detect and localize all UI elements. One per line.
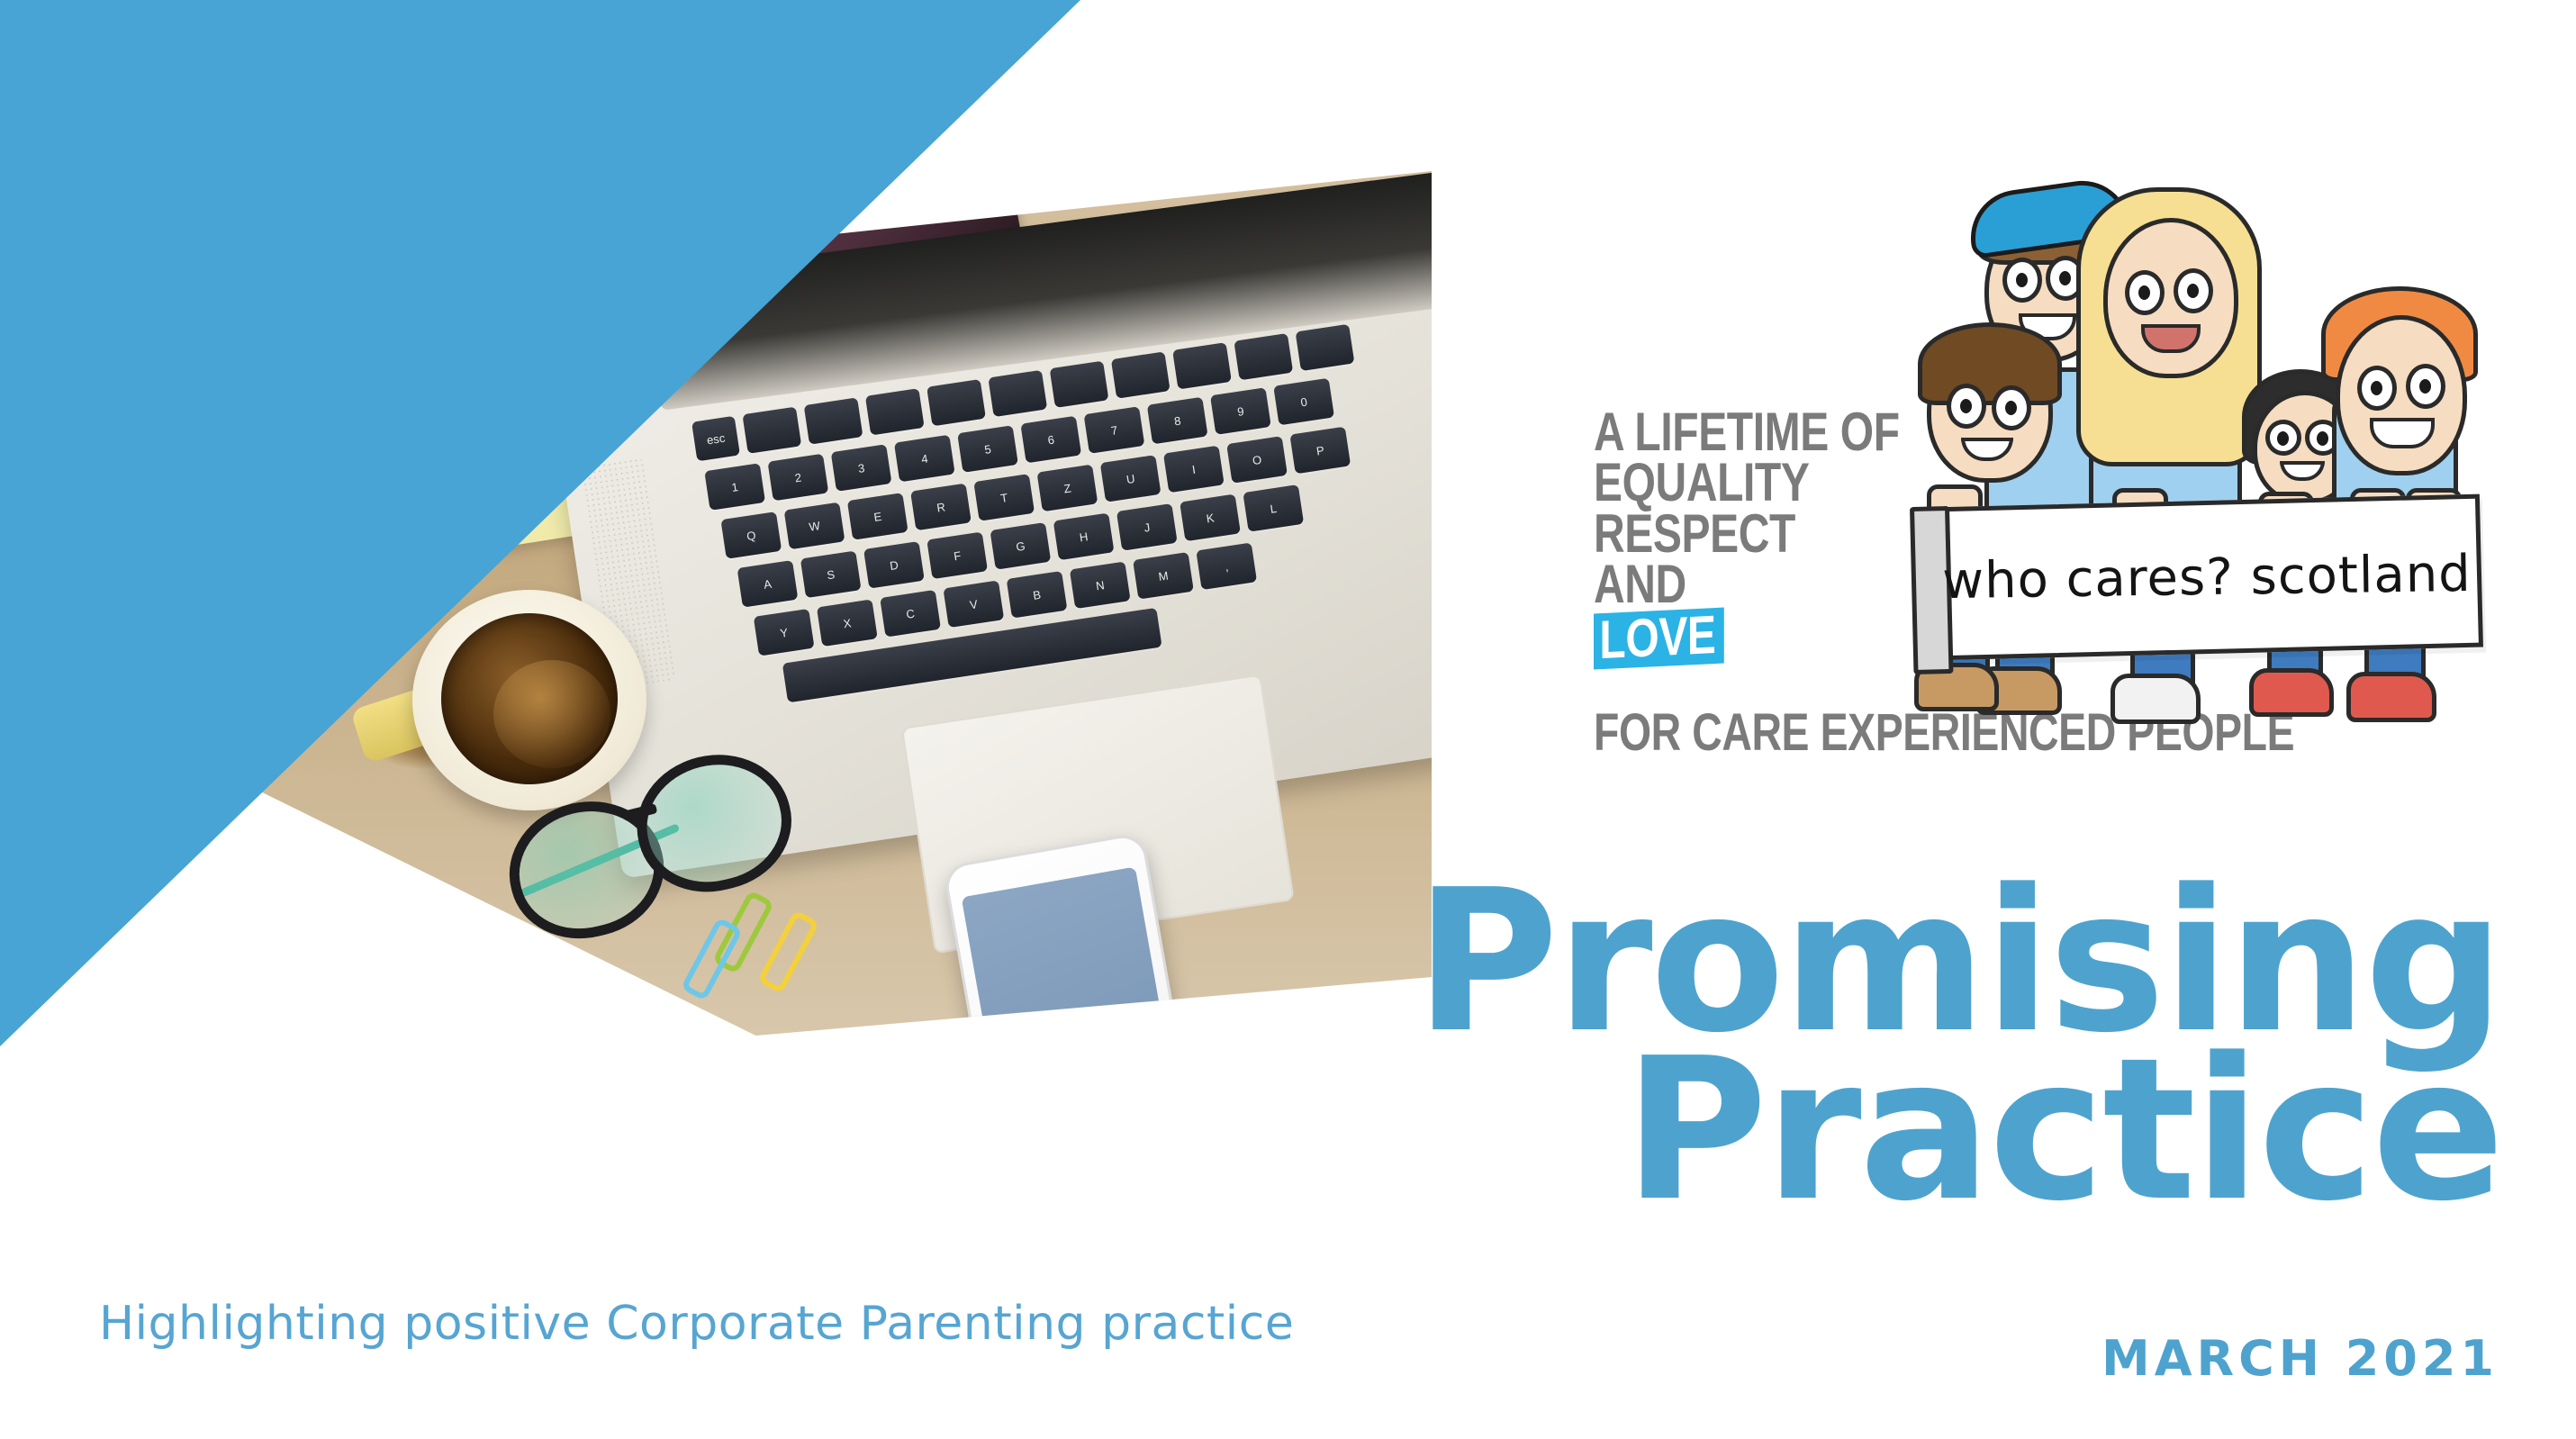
child-mouth <box>2370 418 2435 448</box>
logo-slogan: A LIFETIME OF EQUALITY RESPECT AND LOVE <box>1594 407 1927 666</box>
phone-screen <box>962 867 1188 1192</box>
pen-orange <box>644 1045 859 1158</box>
child-head <box>2336 315 2467 475</box>
logo-love-highlight: LOVE <box>1594 607 1724 669</box>
logo-slogan-line-1: A LIFETIME OF <box>1594 407 1860 457</box>
who-cares-banner: who cares? scotland <box>1930 494 2483 661</box>
coffee-crema <box>493 660 610 768</box>
child-shoe <box>2111 674 2201 724</box>
child-head <box>2103 218 2238 378</box>
page-title: Promising Practice <box>1415 878 2502 1216</box>
wood-knot <box>288 887 366 928</box>
coffee-liquid <box>441 613 618 784</box>
child-hair <box>1918 322 2062 405</box>
slide-canvas: esc 12 34 56 78 90 <box>0 0 2576 1439</box>
child-shoe <box>2249 668 2334 717</box>
logo-slogan-line-4: AND <box>1594 559 1860 610</box>
who-cares-scotland-logo: A LIFETIME OF EQUALITY RESPECT AND LOVE … <box>1594 171 2503 756</box>
page-subtitle: Highlighting positive Corporate Parentin… <box>99 1297 1294 1351</box>
logo-slogan-line-2: EQUALITY <box>1594 457 1860 508</box>
cartoon-children-illustration: who cares? scotland <box>1909 171 2503 711</box>
pen-red <box>653 1095 858 1196</box>
issue-date: MARCH 2021 <box>2101 1330 2499 1387</box>
banner-text: who cares? scotland <box>1936 502 2478 653</box>
pen-green <box>667 1140 857 1228</box>
logo-slogan-line-3: RESPECT <box>1594 509 1860 559</box>
child-shoe <box>2346 672 2436 722</box>
